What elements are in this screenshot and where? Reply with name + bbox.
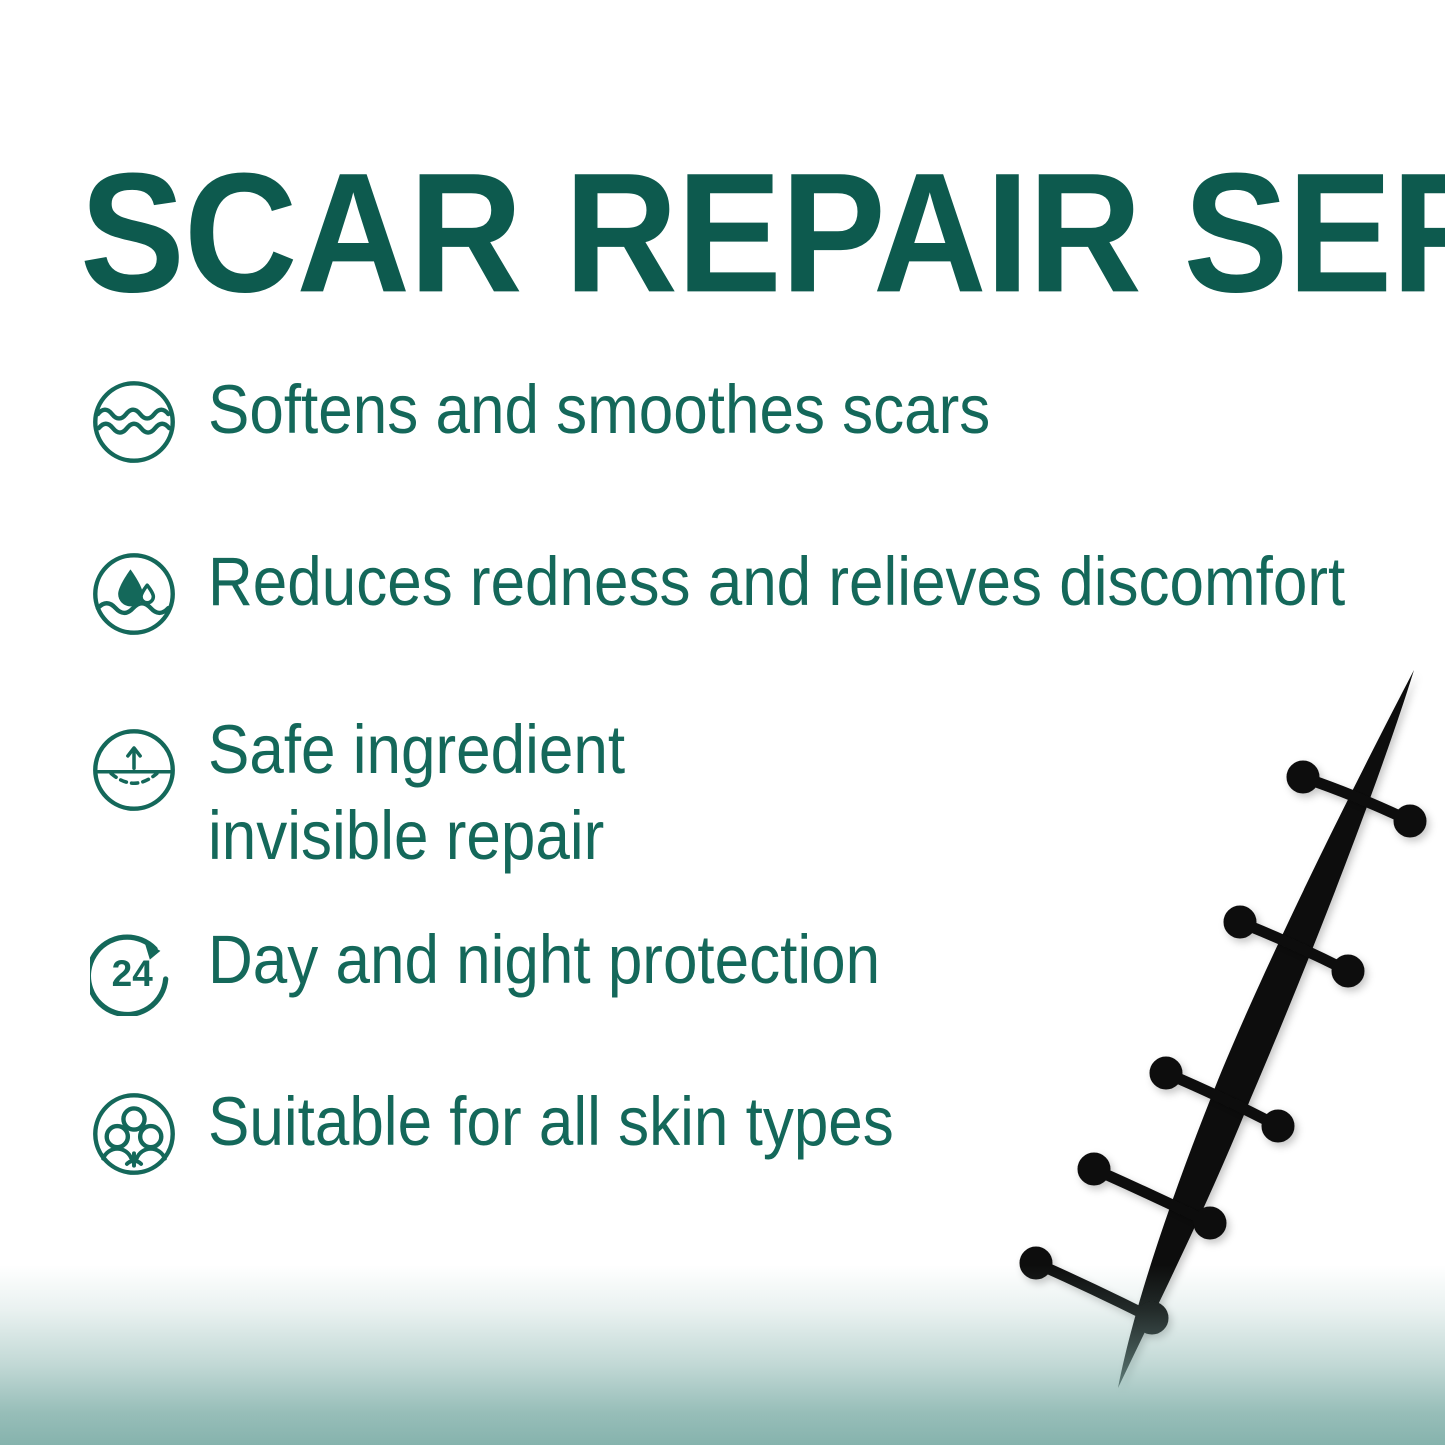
feature-label: Softens and smoothes scars [208, 368, 1416, 454]
infographic-canvas: SCAR REPAIR SERUM Softens and smoothes s… [0, 0, 1445, 1445]
group-people-circle-icon [86, 1086, 182, 1182]
feature-label: Suitable for all skin types [208, 1080, 1416, 1166]
feature-item-safe-ingredient-invisible-repair: Safe ingredient invisible repair [86, 716, 1416, 872]
feature-list: Softens and smoothes scars Reduces redne… [86, 372, 1416, 1182]
waves-circle-icon [86, 374, 182, 470]
feature-label: Safe ingredient invisible repair [208, 708, 1416, 880]
feature-item-day-and-night-protection: 24 Day and night protection [86, 922, 1416, 1020]
feature-item-suitable-for-all-skin-types: Suitable for all skin types [86, 1084, 1416, 1182]
feature-item-reduces-redness-and-relieves-discomfort: Reduces redness and relieves discomfort [86, 544, 1416, 642]
skin-lift-arrow-circle-icon [86, 722, 182, 818]
feature-label: Reduces redness and relieves discomfort [208, 540, 1416, 626]
feature-label: Day and night protection [208, 918, 1416, 1004]
water-drop-circle-icon [86, 546, 182, 642]
24-hour-cycle-icon: 24 [86, 924, 182, 1020]
page-title: SCAR REPAIR SERUM [80, 148, 1426, 318]
feature-item-softens-and-smoothes-scars: Softens and smoothes scars [86, 372, 1416, 470]
icon-text-24: 24 [112, 953, 154, 994]
